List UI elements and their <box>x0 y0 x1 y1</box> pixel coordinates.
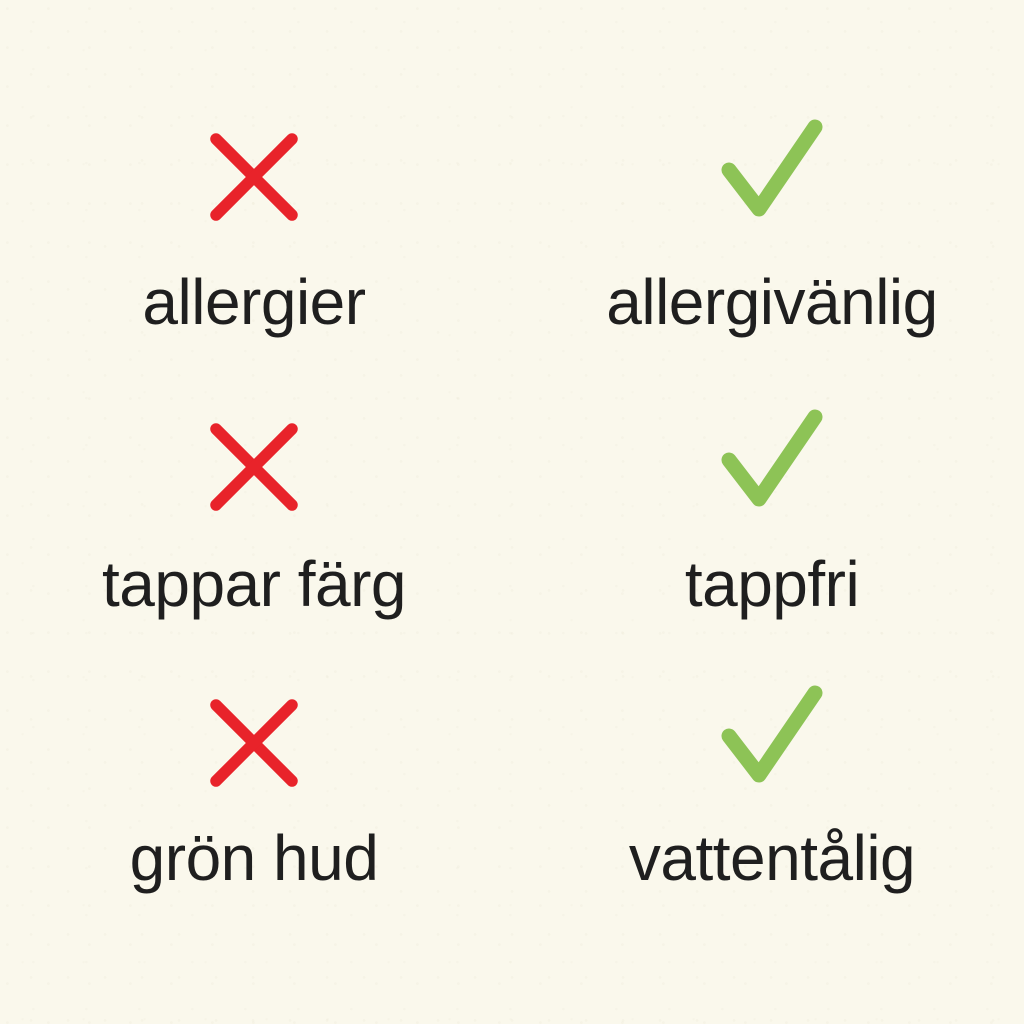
check-icon <box>716 112 828 224</box>
comparison-item-positive-2: tappfri <box>512 340 1024 620</box>
comparison-label: allergivänlig <box>606 270 937 334</box>
comparison-item-negative-3: grön hud <box>0 620 512 900</box>
comparison-item-positive-3: vattentålig <box>512 620 1024 900</box>
check-icon <box>716 402 828 514</box>
comparison-label: vattentålig <box>629 826 915 890</box>
comparison-item-positive-1: allergivänlig <box>512 0 1024 340</box>
cross-icon <box>207 420 301 514</box>
comparison-item-negative-2: tappar färg <box>0 340 512 620</box>
comparison-label: tappfri <box>685 552 859 616</box>
bottom-spacer <box>0 900 1024 1024</box>
check-icon <box>716 678 828 790</box>
comparison-grid: allergier allergivänlig tappar färg <box>0 0 1024 1024</box>
comparison-label: tappar färg <box>102 552 406 616</box>
cross-icon <box>207 130 301 224</box>
comparison-item-negative-1: allergier <box>0 0 512 340</box>
comparison-label: grön hud <box>130 826 379 890</box>
comparison-label: allergier <box>142 270 365 334</box>
cross-icon <box>207 696 301 790</box>
